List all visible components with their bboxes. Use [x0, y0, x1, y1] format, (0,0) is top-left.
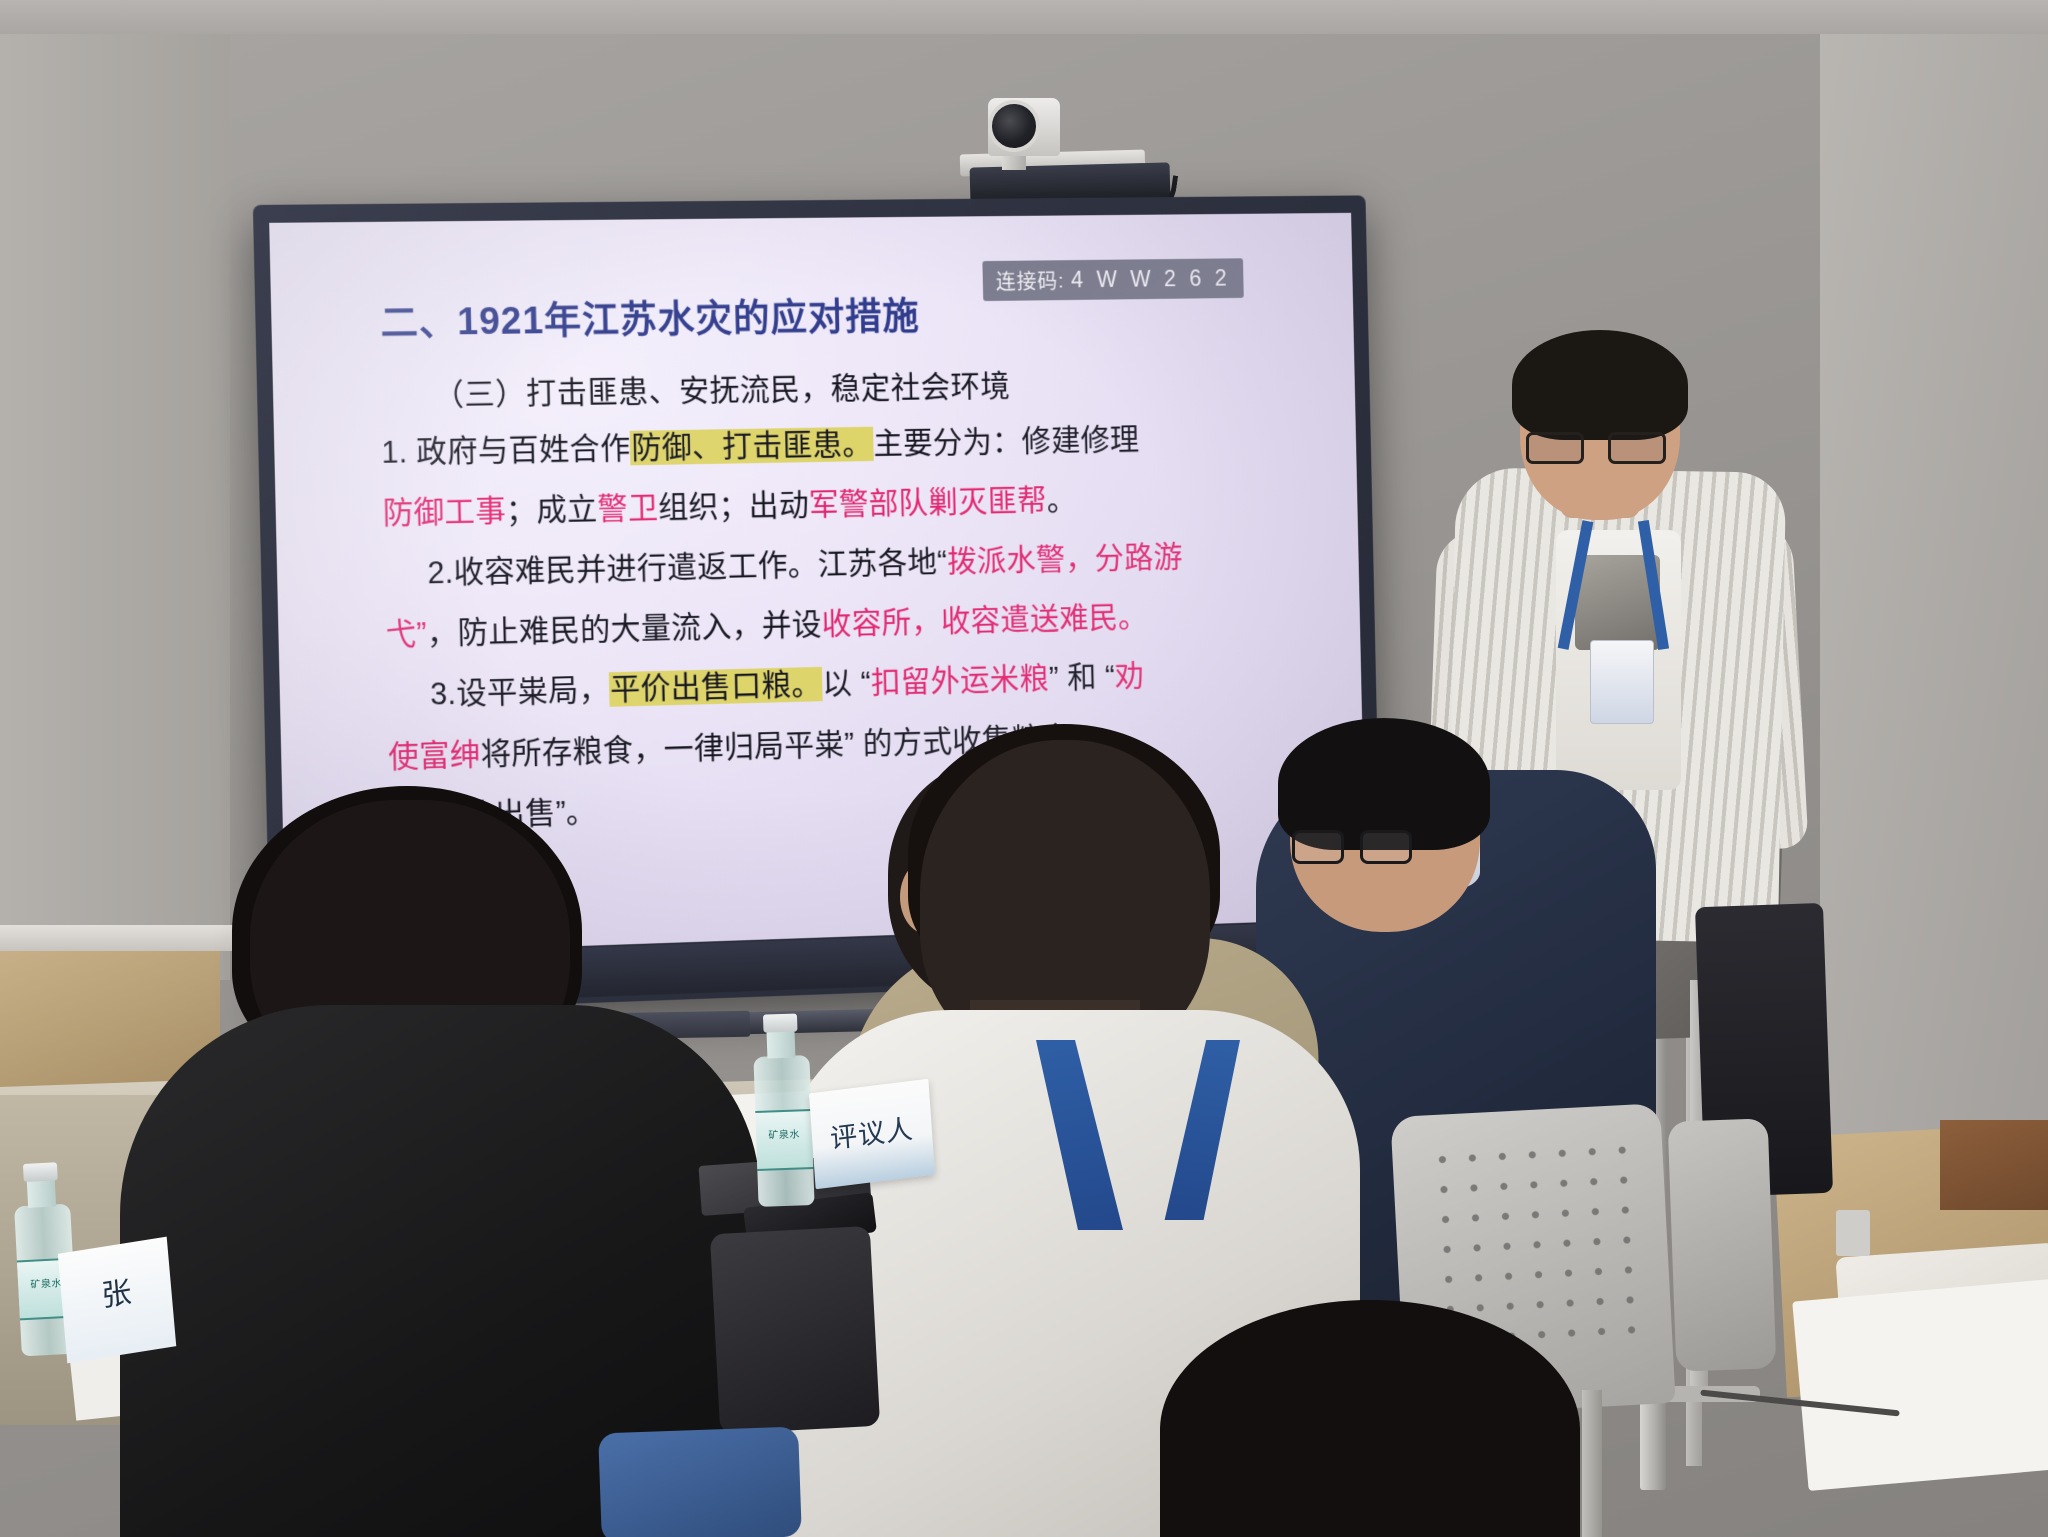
slide-paragraph-1b: 防御工事；成立警卫组织；出动军警部队剿灭匪帮。 [382, 473, 1304, 537]
slide-subtitle: （三）打击匪患、安抚流民，稳定社会环境 [433, 357, 1302, 414]
wall-power-outlet[interactable] [1836, 1210, 1870, 1256]
seg-2b2: ，防止难民的大量流入，并设 [426, 607, 822, 651]
bottle-cap [23, 1162, 58, 1182]
seg-3a: 3.设平粜局， [430, 673, 610, 712]
presenter-glasses-icon [1526, 432, 1666, 466]
seg-1b2: ；成立 [505, 492, 597, 528]
seg-3f-red: 劝 [1115, 659, 1145, 694]
attendee-right-glasses-icon [1292, 830, 1412, 866]
seg-2b3-red: 收容所，收容遣送难民。 [821, 600, 1147, 642]
seg-3c: 以 “ [822, 666, 871, 702]
chair-left-foreground[interactable] [598, 1427, 802, 1537]
name-card-reviewer: 评议人 [809, 1079, 935, 1189]
conference-room-photo: 二、1921年江苏水灾的应对措施 （三）打击匪患、安抚流民，稳定社会环境 1. … [0, 0, 2048, 1537]
bottle-label-text: 矿泉水 [756, 1125, 812, 1142]
seg-1c: 主要分为：修建修理 [873, 422, 1140, 461]
seg-3b1-red: 使富绅 [388, 737, 481, 774]
camera-lens-icon [988, 100, 1040, 152]
seg-2b1-red: 弋” [385, 617, 427, 653]
seg-1b1-red: 防御工事 [382, 493, 506, 530]
seg-1b5-red: 军警部队剿灭匪帮 [809, 483, 1048, 522]
seg-1a: 1. 政府与百姓合作 [381, 431, 631, 470]
connection-code-badge: 连接码: 4 W W 2 6 2 [982, 258, 1244, 301]
seg-3d-red: 扣留外运米粮 [871, 662, 1050, 701]
paper-sheet-right [1792, 1279, 2048, 1491]
dark-bag [710, 1226, 880, 1434]
chair-right-post [1582, 1390, 1602, 1537]
presenter-hair [1512, 330, 1688, 440]
connection-code-value: 4 W W 2 6 2 [1071, 265, 1231, 292]
seg-3b-highlight: 平价出售口粮。 [609, 667, 823, 707]
connection-code-label: 连接码: [996, 270, 1065, 293]
slide-paragraph-1: 1. 政府与百姓合作防御、打击匪患。主要分为：修建修理 [381, 414, 1303, 476]
bottle-cap [763, 1013, 798, 1032]
name-card-left-text: 张 [60, 1260, 173, 1321]
presenter-badge [1590, 640, 1654, 724]
wall-left-panel [0, 0, 230, 980]
seg-1b6: 。 [1046, 483, 1076, 518]
table-right-wood-edge [1940, 1120, 2048, 1210]
side-cabinet-top [0, 925, 240, 951]
seg-3e: ” 和 “ [1049, 660, 1116, 696]
seg-2a: 2.收容难民并进行遣返工作。江苏各地“ [427, 545, 947, 591]
slide-paragraph-2: 2.收容难民并进行遣返工作。江苏各地“拨派水警，分路游 [427, 532, 1305, 597]
seg-1b-highlight: 防御、打击匪患。 [630, 427, 874, 466]
seg-1b4: 组织；出动 [658, 488, 809, 525]
slide-paragraph-3: 3.设平粜局，平价出售口粮。以 “扣留外运米粮” 和 “劝 [430, 649, 1308, 718]
name-card-left: 张 [58, 1237, 176, 1364]
name-card-reviewer-text: 评议人 [811, 1105, 933, 1159]
seg-1b3-red: 警卫 [597, 491, 659, 527]
slide-paragraph-2b: 弋”，防止难民的大量流入，并设收容所，收容遣送难民。 [385, 590, 1307, 658]
seg-2b-red: 拨派水警，分路游 [947, 540, 1183, 579]
chair-right-second[interactable] [1668, 1118, 1777, 1371]
water-bottle-center[interactable]: 矿泉水 [753, 1055, 814, 1207]
wall-right-panel [1820, 0, 2048, 1180]
ceiling-edge [0, 0, 2048, 34]
